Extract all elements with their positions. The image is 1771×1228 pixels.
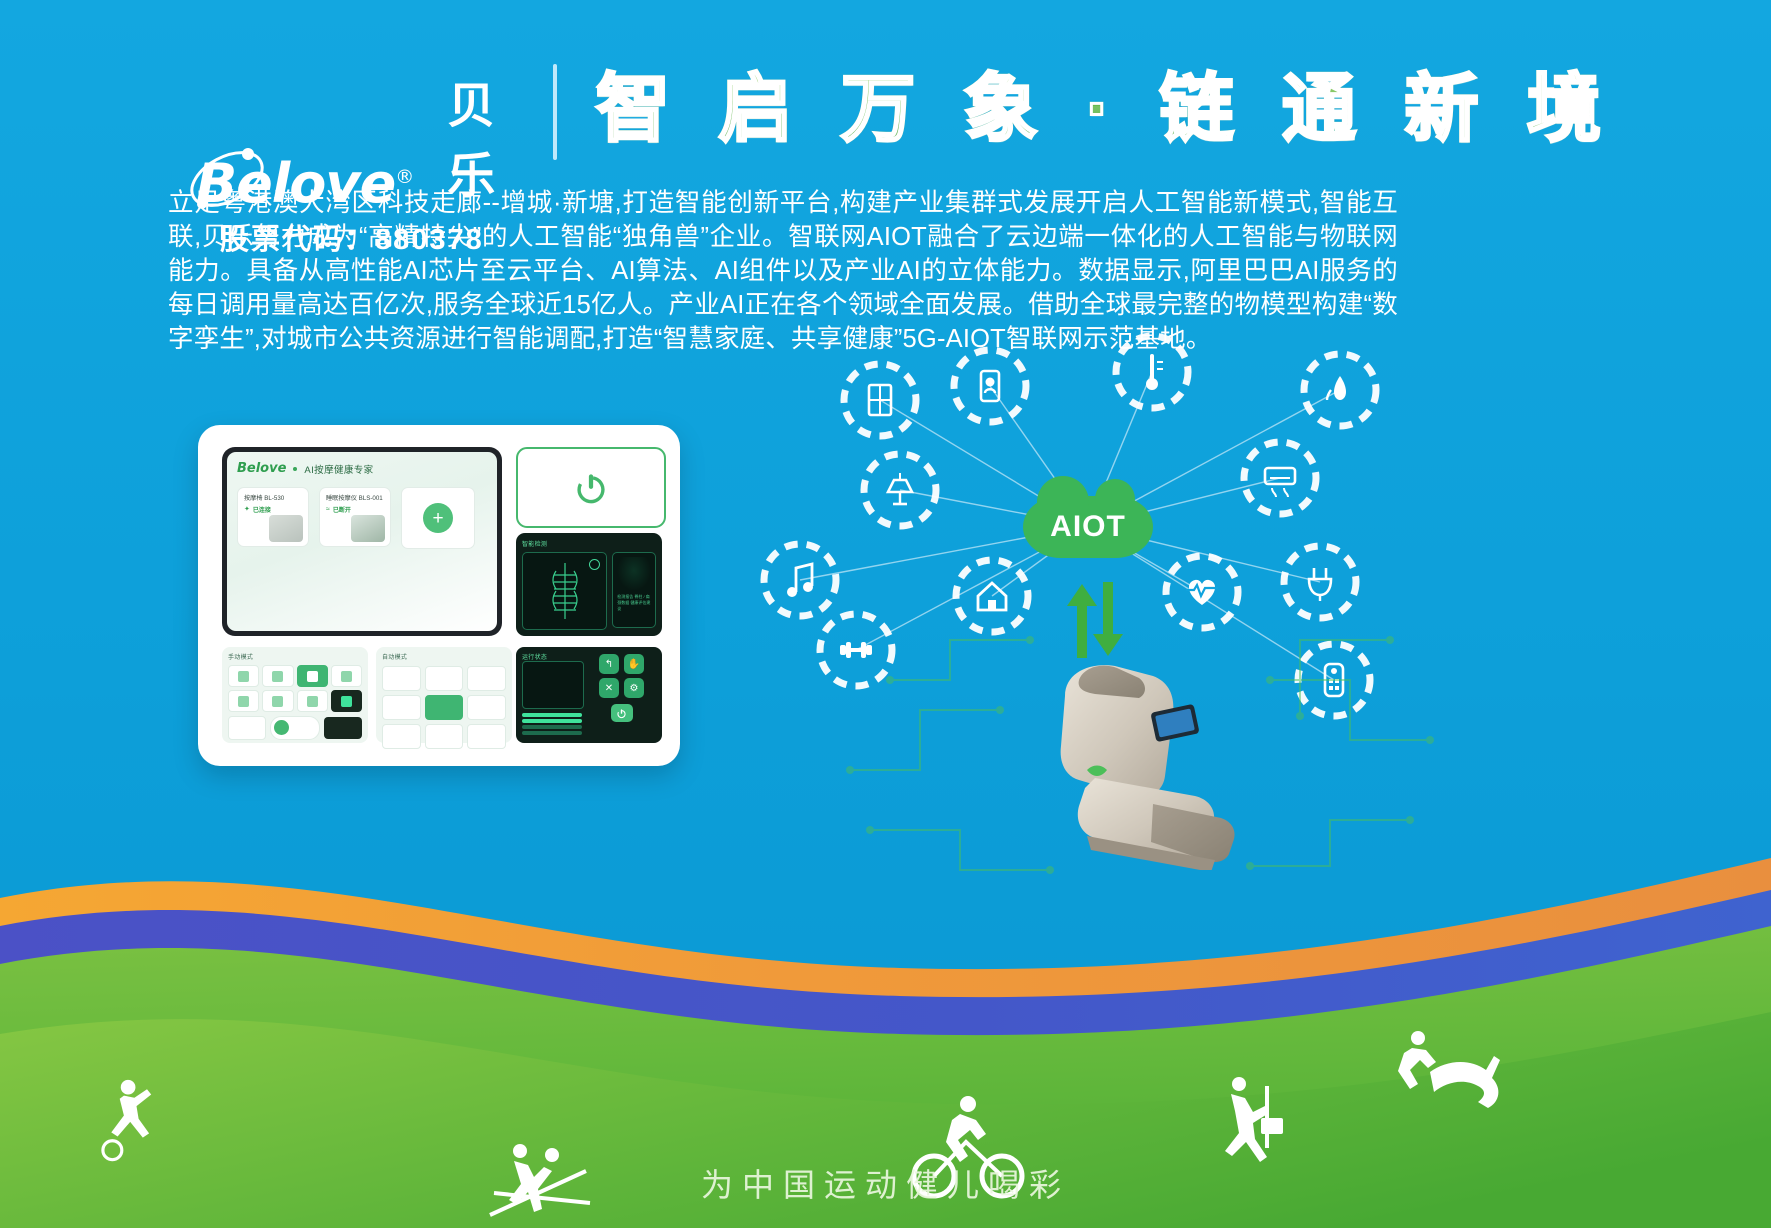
scan-report: 检测报告 脊柱 / 肩颈数据 健康评估建议 bbox=[612, 552, 656, 628]
tablet-screen: Belove AI按摩健康专家 按摩椅 BL-530 ✦ 已连接 睡眠按摩 bbox=[227, 452, 497, 631]
mode-icon bbox=[307, 696, 318, 707]
mode-icon bbox=[272, 671, 283, 682]
data-transfer-arrows bbox=[1063, 580, 1123, 660]
mode-cell[interactable] bbox=[331, 665, 362, 687]
lamp-icon bbox=[864, 454, 936, 526]
power-icon bbox=[616, 708, 627, 719]
auto-cell[interactable] bbox=[382, 724, 421, 749]
status-bar bbox=[522, 719, 582, 723]
mode-cell[interactable] bbox=[228, 690, 259, 712]
phone-icon bbox=[954, 350, 1026, 422]
auto-mode-label: 自动模式 bbox=[382, 652, 506, 661]
scan-report-text: 检测报告 脊柱 / 肩颈数据 健康评估建议 bbox=[617, 594, 651, 612]
device-thumbnail bbox=[351, 515, 385, 542]
humidity-icon bbox=[1304, 354, 1376, 426]
manual-mode-panel: 手动模式 bbox=[222, 647, 368, 743]
status-bar bbox=[522, 713, 582, 717]
auto-cell[interactable] bbox=[382, 695, 421, 720]
aiot-hub-label: AIOT bbox=[1050, 510, 1126, 544]
add-device-card[interactable]: + bbox=[401, 487, 475, 549]
page-title: 智 启 万 象 · 链 通 新 境 bbox=[596, 58, 1615, 160]
spine-scan-view bbox=[522, 552, 607, 630]
intensity-slider[interactable] bbox=[270, 716, 321, 740]
mode-icon bbox=[238, 696, 249, 707]
status-bar bbox=[522, 725, 582, 729]
mode-icon bbox=[307, 671, 318, 682]
footer-tagline: 为中国运动健儿喝彩 bbox=[0, 1160, 1771, 1206]
spine-icon bbox=[550, 561, 580, 621]
control-label: 运行状态 bbox=[522, 652, 582, 661]
tablet-bezel: Belove AI按摩健康专家 按摩椅 BL-530 ✦ 已连接 睡眠按摩 bbox=[222, 447, 502, 636]
device-status-row: ✦ 已连接 bbox=[244, 505, 302, 514]
thermometer-icon bbox=[1116, 336, 1188, 408]
device-thumbnail bbox=[269, 515, 303, 542]
registered-mark: ® bbox=[395, 166, 413, 188]
auto-cell[interactable] bbox=[425, 724, 464, 749]
power-plug-icon bbox=[1284, 546, 1356, 618]
device-card[interactable]: 按摩椅 BL-530 ✦ 已连接 bbox=[237, 487, 309, 547]
slider-knob[interactable] bbox=[274, 720, 289, 735]
mode-icon bbox=[341, 671, 352, 682]
scan-label: 智能检测 bbox=[522, 539, 656, 548]
heartbeat-icon bbox=[1166, 556, 1238, 628]
auto-cell[interactable] bbox=[467, 724, 506, 749]
auto-cell[interactable] bbox=[467, 695, 506, 720]
mode-icon bbox=[272, 696, 283, 707]
poster-canvas: Belove® 贝乐 股票代码：880378 智 启 万 象 · 链 通 新 境… bbox=[0, 0, 1771, 1228]
poster-header: Belove® 贝乐 股票代码：880378 智 启 万 象 · 链 通 新 境… bbox=[0, 0, 1771, 200]
stop-button[interactable]: ✕ bbox=[599, 678, 619, 698]
device-status: 已断开 bbox=[333, 505, 351, 514]
app-header: Belove AI按摩健康专家 bbox=[237, 461, 487, 476]
auto-mode-grid bbox=[382, 666, 506, 749]
auto-cell[interactable] bbox=[425, 666, 464, 691]
plus-icon[interactable]: + bbox=[423, 503, 453, 533]
kiosk-mockup: Belove AI按摩健康专家 按摩椅 BL-530 ✦ 已连接 睡眠按摩 bbox=[198, 425, 680, 766]
mode-cell[interactable] bbox=[228, 665, 259, 687]
mode-icon bbox=[238, 671, 249, 682]
power-panel[interactable] bbox=[516, 447, 666, 528]
power-toggle-button[interactable] bbox=[611, 704, 633, 722]
auto-cell[interactable] bbox=[467, 666, 506, 691]
device-name: 睡眠按摩仪 BLS-001 bbox=[326, 493, 384, 502]
auto-cell[interactable] bbox=[425, 695, 464, 720]
device-status: 已连接 bbox=[253, 505, 271, 514]
control-panel: 运行状态 ↰ ✋ ✕ ⚙ bbox=[516, 647, 662, 743]
mode-cell[interactable] bbox=[262, 665, 293, 687]
mode-cell-figure[interactable] bbox=[331, 690, 362, 712]
music-icon bbox=[764, 544, 836, 616]
status-bar bbox=[522, 731, 582, 735]
device-card-list: 按摩椅 BL-530 ✦ 已连接 睡眠按摩仪 BLS-001 ≈ 已断开 bbox=[237, 487, 487, 549]
header-divider bbox=[553, 64, 557, 160]
mode-cell[interactable] bbox=[262, 690, 293, 712]
scan-panel: 智能检测 检测报告 脊柱 / 肩颈数据 健康评估建议 bbox=[516, 533, 662, 636]
scan-indicator bbox=[589, 559, 600, 570]
gauge-display bbox=[228, 716, 266, 740]
wifi-icon: ≈ bbox=[326, 506, 330, 513]
status-bars bbox=[522, 713, 582, 735]
auto-mode-panel: 自动模式 bbox=[376, 647, 512, 743]
separator-dot bbox=[293, 467, 297, 471]
mode-cell[interactable] bbox=[297, 665, 328, 687]
body-icon bbox=[341, 696, 352, 707]
back-button[interactable]: ↰ bbox=[599, 654, 619, 674]
air-conditioner-icon bbox=[1244, 442, 1316, 514]
body-figure-icon bbox=[617, 557, 651, 591]
device-status-row: ≈ 已断开 bbox=[326, 505, 384, 514]
auto-cell[interactable] bbox=[382, 666, 421, 691]
mode-cell[interactable] bbox=[297, 690, 328, 712]
door-icon bbox=[844, 364, 916, 436]
manual-mode-label: 手动模式 bbox=[228, 652, 362, 661]
hand-button[interactable]: ✋ bbox=[624, 654, 644, 674]
mode-grid bbox=[228, 665, 362, 712]
app-title: AI按摩健康专家 bbox=[304, 462, 373, 476]
device-name: 按摩椅 BL-530 bbox=[244, 493, 302, 502]
body-map-thumb bbox=[324, 717, 362, 739]
massage-chair-illustration bbox=[1035, 650, 1255, 870]
app-logo: Belove bbox=[237, 461, 286, 476]
aiot-hub: AIOT bbox=[1023, 496, 1153, 558]
bluetooth-icon: ✦ bbox=[244, 506, 250, 513]
device-card[interactable]: 睡眠按摩仪 BLS-001 ≈ 已断开 bbox=[319, 487, 391, 547]
settings-gear-icon[interactable]: ⚙ bbox=[624, 678, 644, 698]
body-status-view bbox=[522, 661, 584, 709]
power-icon bbox=[574, 471, 608, 505]
